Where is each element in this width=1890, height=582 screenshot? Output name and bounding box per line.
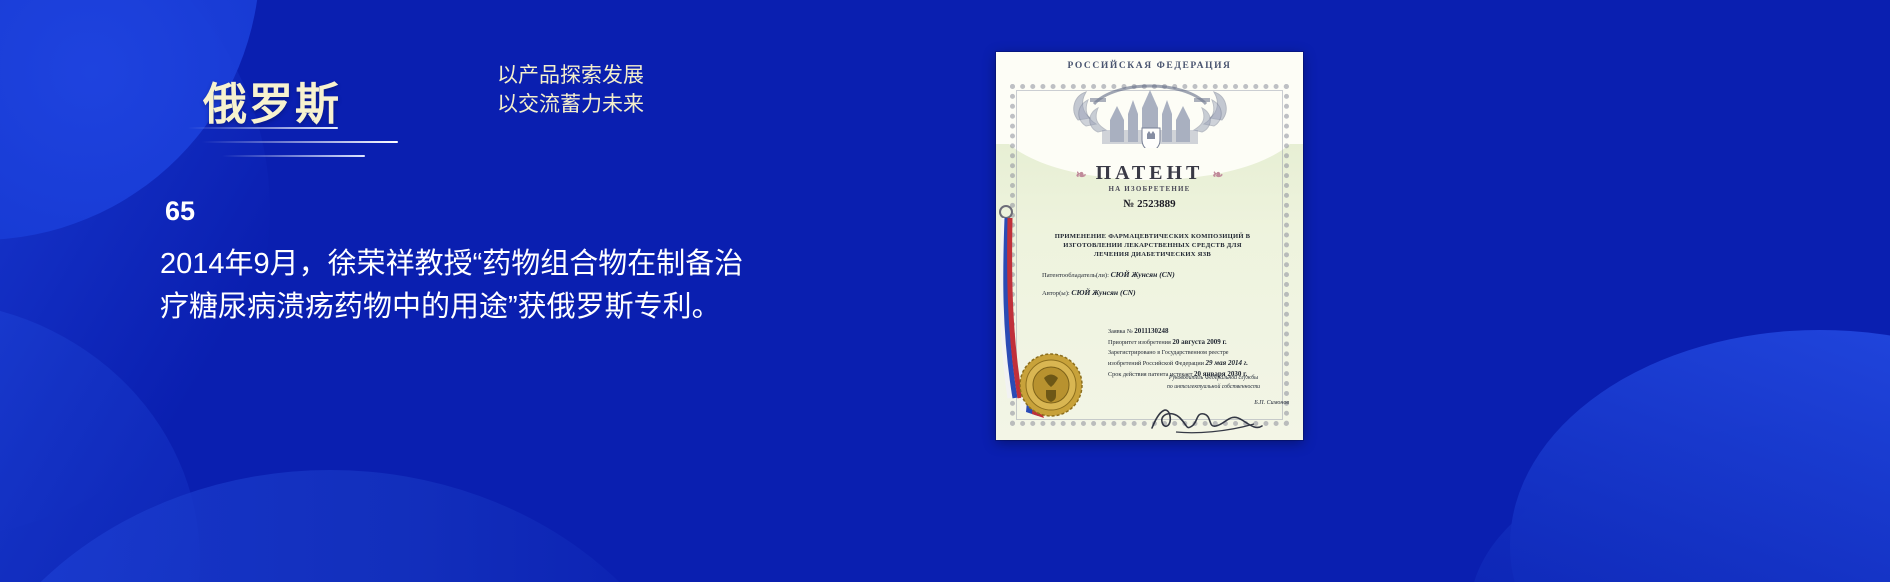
background-shape-right-wave-a xyxy=(1510,330,1890,582)
certificate-signer-role-line-1: Руководитель Федеральной службы xyxy=(1136,374,1291,383)
certificate-application-line: Заявка № 2011130248 xyxy=(1108,326,1287,337)
certificate-application-label: Заявка № xyxy=(1108,328,1133,335)
subtitle-line-2: 以交流蓄力未来 xyxy=(497,90,644,119)
slide-root: 俄罗斯 以产品探索发展 以交流蓄力未来 65 2014年9月，徐荣祥教授“药物组… xyxy=(0,0,1890,582)
certificate-application-value: 2011130248 xyxy=(1134,327,1168,335)
gold-seal-icon xyxy=(1018,352,1084,418)
certificate-registered-value: 29 мая 2014 г. xyxy=(1206,359,1248,367)
body-line-1: 2014年9月，徐荣祥教授“药物组合物在制备治 xyxy=(160,243,860,286)
kremlin-emblem-icon xyxy=(1064,74,1236,148)
certificate-dates-block: Заявка № 2011130248 Приоритет изобретени… xyxy=(1108,326,1287,380)
certificate-patent-subheading: НА ИЗОБРЕТЕНИЕ xyxy=(996,185,1303,193)
certificate-signer-role-line-2: по интеллектуальной собственности xyxy=(1136,383,1291,392)
subtitle-line-1: 以产品探索发展 xyxy=(497,61,644,90)
ornament-right-icon: ❧ xyxy=(1212,167,1223,182)
ornament-left-icon: ❧ xyxy=(1076,167,1087,182)
certificate-patent-word: ПАТЕНТ xyxy=(1096,162,1204,184)
certificate-priority-label: Приоритет изобретения xyxy=(1108,339,1171,346)
page-title: 俄罗斯 xyxy=(203,68,341,132)
handwritten-signature-icon xyxy=(1146,404,1266,436)
certificate-holder-value: СЮЙ Жунсян (CN) xyxy=(1111,270,1175,279)
patent-certificate-image[interactable]: РОССИЙСКАЯ ФЕДЕРАЦИЯ xyxy=(996,52,1303,440)
certificate-registered-label-2: изобретений Российской Федерации xyxy=(1108,360,1204,367)
background-shape-right-wave-b xyxy=(1470,420,1890,582)
certificate-registered-line-2: изобретений Российской Федерации 29 мая … xyxy=(1108,358,1287,369)
certificate-country-header: РОССИЙСКАЯ ФЕДЕРАЦИЯ xyxy=(996,61,1303,71)
certificate-priority-value: 20 августа 2009 г. xyxy=(1172,338,1226,346)
title-rule-3 xyxy=(222,155,365,157)
item-number: 65 xyxy=(165,196,195,227)
certificate-author-value: СЮЙ Жунсян (CN) xyxy=(1071,288,1135,297)
body-line-2: 疗糖尿病溃疡药物中的用途”获俄罗斯专利。 xyxy=(160,286,860,329)
certificate-patent-heading: ❧ ПАТЕНТ ❧ xyxy=(996,162,1303,185)
title-underline-decoration xyxy=(178,127,498,167)
background-shape-bottom-wave xyxy=(0,470,720,582)
title-rule-2 xyxy=(202,141,398,143)
certificate-priority-line: Приоритет изобретения 20 августа 2009 г. xyxy=(1108,337,1287,348)
background-shape-left-lower xyxy=(0,300,200,582)
certificate-signer-role: Руководитель Федеральной службы по интел… xyxy=(1136,374,1291,391)
certificate-registered-label-1: Зарегистрировано в Государственном реест… xyxy=(1108,348,1287,358)
body-paragraph: 2014年9月，徐荣祥教授“药物组合物在制备治 疗糖尿病溃疡药物中的用途”获俄罗… xyxy=(160,243,860,329)
title-rule-1 xyxy=(188,127,338,129)
subtitle: 以产品探索发展 以交流蓄力未来 xyxy=(497,61,644,119)
